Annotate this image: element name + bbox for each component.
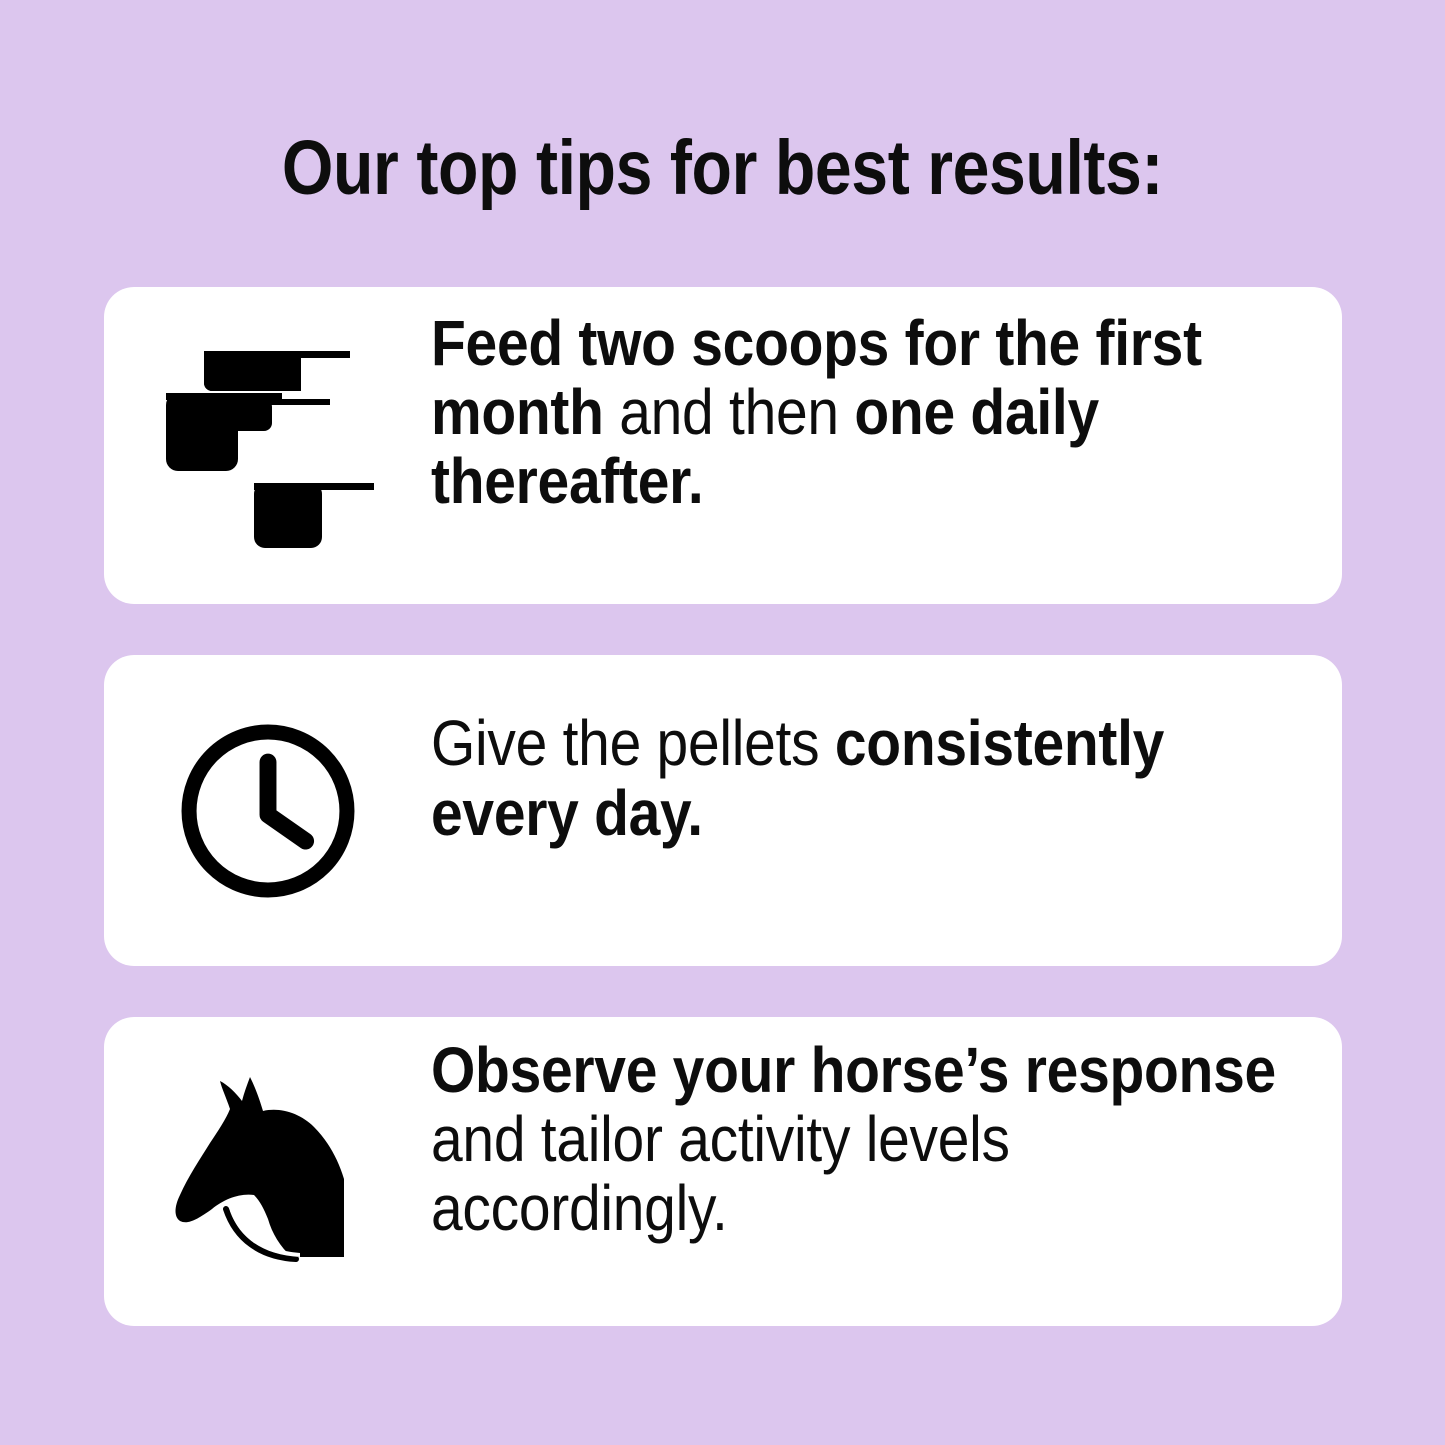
tip-text-container: Observe your horse’s response and tailor… — [431, 1036, 1342, 1307]
tip-text-regular-mid: and then — [604, 376, 855, 448]
tip-text-container: Feed two scoops for the first month and … — [431, 311, 1342, 580]
horse-head-icon — [168, 1067, 368, 1277]
tip-icon-container — [104, 287, 431, 604]
tip-card-feeding: Feed two scoops for the first month and … — [104, 287, 1342, 604]
tip-card-observation: Observe your horse’s response and tailor… — [104, 1017, 1342, 1326]
tip-text: Observe your horse’s response and tailor… — [431, 1036, 1298, 1243]
tip-card-consistency: Give the pellets consistently every day. — [104, 655, 1342, 966]
tip-text-bold-lead: Observe your horse’s response — [431, 1034, 1276, 1106]
tips-poster: Our top tips for best results: F — [0, 0, 1445, 1445]
tip-text-regular-tail: and tailor activity levels accordingly. — [431, 1103, 1010, 1244]
page-title: Our top tips for best results: — [101, 130, 1344, 207]
two-scoops-icon — [160, 343, 375, 548]
tip-icon-container — [104, 655, 431, 966]
tip-text: Feed two scoops for the first month and … — [431, 309, 1298, 516]
tip-icon-container — [104, 1017, 431, 1326]
clock-icon — [174, 717, 362, 905]
tip-text: Give the pellets consistently every day. — [431, 709, 1298, 847]
tip-text-container: Give the pellets consistently every day. — [431, 709, 1342, 911]
tip-text-regular-lead: Give the pellets — [431, 707, 835, 779]
